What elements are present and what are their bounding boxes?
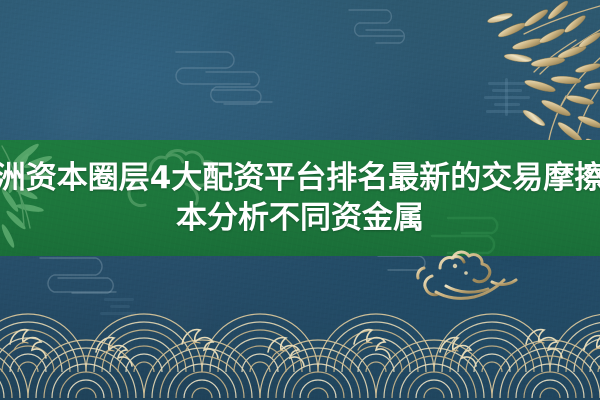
- headline-line-2: 本分析不同资金属: [176, 198, 424, 238]
- headline-line-1: 亚洲资本圈层4大配资平台排名最新的交易摩擦成: [0, 158, 600, 198]
- banner-image: 亚洲资本圈层4大配资平台排名最新的交易摩擦成 本分析不同资金属: [0, 0, 600, 400]
- page-title: 亚洲资本圈层4大配资平台排名最新的交易摩擦成 本分析不同资金属: [0, 140, 600, 256]
